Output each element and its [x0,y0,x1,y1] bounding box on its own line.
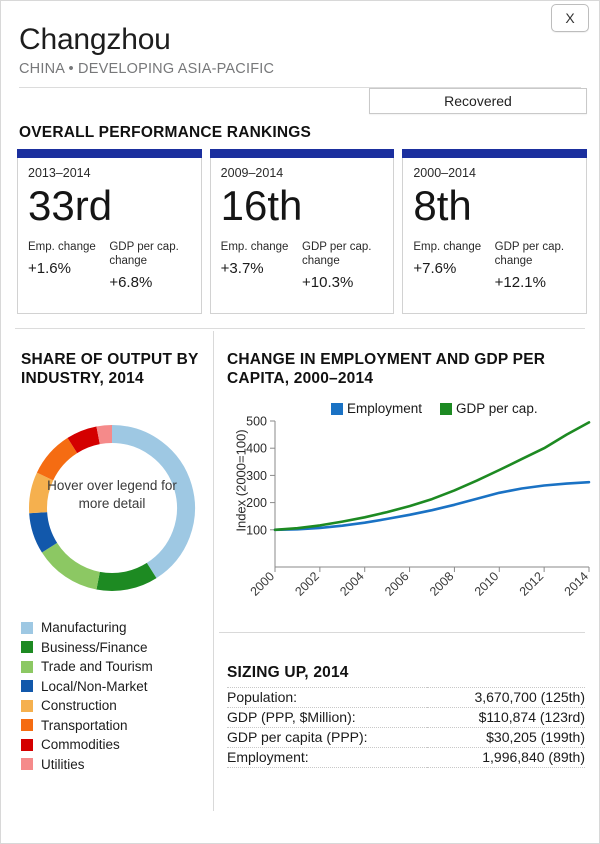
line-chart-svg: 1002003004005002000200220042006200820102… [223,415,595,615]
legend-item[interactable]: Transportation [21,716,211,736]
legend-item-label: Transportation [41,718,128,733]
x-axis-tick-label: 2002 [292,569,322,599]
legend-color-swatch [21,680,33,692]
card-metrics: Emp. change +3.7% GDP per cap. change +1… [221,240,384,291]
legend-item[interactable]: Business/Finance [21,638,211,658]
legend-item[interactable]: Construction [21,696,211,716]
y-axis-tick-label: 100 [246,523,267,537]
table-row-label: GDP (PPP, $Million): [227,708,427,728]
x-axis-tick-label: 2012 [517,569,547,599]
share-of-output-heading: SHARE OF OUTPUT BY INDUSTRY, 2014 [21,350,206,388]
card-accent-bar [402,149,587,158]
metric-value: +3.7% [221,260,302,277]
city-profile-panel: X Changzhou CHINA • DEVELOPING ASIA-PACI… [0,0,600,844]
legend-item[interactable]: Local/Non-Market [21,677,211,697]
metric-value: +12.1% [495,274,576,291]
card-accent-bar [17,149,202,158]
x-axis-tick-label: 2010 [472,569,502,599]
employment-gdp-line-chart[interactable]: EmploymentGDP per cap. Index (2000=100) … [223,401,595,616]
donut-segment[interactable] [45,446,72,477]
donut-segment[interactable] [38,513,49,548]
card-period: 2000–2014 [413,166,576,180]
metric-value: +7.6% [413,260,494,277]
y-axis-tick-label: 500 [246,415,267,429]
rankings-card-list: 2013–2014 33rd Emp. change +1.6% GDP per… [17,149,587,314]
line-series-path[interactable] [275,482,589,530]
metric-label: Emp. change [413,240,493,254]
y-axis-tick-label: 200 [246,496,267,510]
legend-color-swatch [21,739,33,751]
table-row: GDP per capita (PPP):$30,205 (199th) [227,728,585,748]
gdp-per-capita-change-metric: GDP per cap. change +6.8% [109,240,190,291]
line-chart-legend[interactable]: EmploymentGDP per cap. [331,401,538,416]
legend-color-swatch [21,758,33,770]
legend-item-label: Manufacturing [41,620,127,635]
table-row-label: GDP per capita (PPP): [227,728,427,748]
legend-item-label: Construction [41,698,117,713]
card-metrics: Emp. change +1.6% GDP per cap. change +6… [28,240,191,291]
card-accent-bar [210,149,395,158]
donut-center-hint: Hover over legend for more detail [33,477,191,513]
sizing-up-heading: SIZING UP, 2014 [227,664,349,682]
card-rank-value: 16th [221,181,384,231]
legend-item[interactable]: Manufacturing [21,618,211,638]
legend-item-label: Local/Non-Market [41,679,148,694]
table-row-value: $110,874 (123rd) [427,708,585,728]
ranking-card[interactable]: 2009–2014 16th Emp. change +3.7% GDP per… [210,149,395,314]
employment-change-metric: Emp. change +1.6% [28,240,109,291]
legend-color-swatch [21,622,33,634]
donut-segment[interactable] [98,434,112,435]
y-axis-tick-label: 400 [246,442,267,456]
employment-gdp-chart-heading: CHANGE IN EMPLOYMENT AND GDP PER CAPITA,… [227,350,582,388]
donut-segment[interactable] [50,548,99,581]
card-metrics: Emp. change +7.6% GDP per cap. change +1… [413,240,576,291]
table-row-label: Employment: [227,748,427,768]
employment-change-metric: Emp. change +7.6% [413,240,494,291]
chart-table-divider [219,632,585,633]
line-legend-swatch [440,403,452,415]
status-badge[interactable]: Recovered [369,88,587,114]
table-row-value: $30,205 (199th) [427,728,585,748]
gdp-per-capita-change-metric: GDP per cap. change +10.3% [302,240,383,291]
card-rank-value: 8th [413,181,576,231]
legend-item-label: Business/Finance [41,640,148,655]
donut-segment[interactable] [98,570,152,582]
donut-segment[interactable] [72,435,98,445]
legend-item[interactable]: Utilities [21,755,211,775]
industry-share-donut-chart[interactable]: Hover over legend for more detail [23,419,201,597]
metric-value: +6.8% [109,274,190,291]
table-row-value: 3,670,700 (125th) [427,688,585,708]
metric-label: GDP per cap. change [302,240,382,268]
metric-value: +10.3% [302,274,383,291]
table-row-value: 1,996,840 (89th) [427,748,585,768]
legend-item-label: Utilities [41,757,85,772]
card-period: 2009–2014 [221,166,384,180]
legend-color-swatch [21,641,33,653]
ranking-card[interactable]: 2013–2014 33rd Emp. change +1.6% GDP per… [17,149,202,314]
header: Changzhou CHINA • DEVELOPING ASIA-PACIFI… [19,23,581,78]
sizing-up-table: Population:3,670,700 (125th)GDP (PPP, $M… [227,687,585,768]
legend-color-swatch [21,661,33,673]
legend-item-label: Commodities [41,737,120,752]
region-subtitle: CHINA • DEVELOPING ASIA-PACIFIC [19,60,581,78]
y-axis-tick-label: 300 [246,469,267,483]
card-rank-value: 33rd [28,181,191,231]
line-legend-label: Employment [347,401,422,416]
x-axis-tick-label: 2000 [248,569,278,599]
column-divider [213,331,214,811]
metric-label: GDP per cap. change [495,240,575,268]
legend-color-swatch [21,700,33,712]
metric-value: +1.6% [28,260,109,277]
table-row: Population:3,670,700 (125th) [227,688,585,708]
rankings-heading: OVERALL PERFORMANCE RANKINGS [19,124,311,142]
employment-change-metric: Emp. change +3.7% [221,240,302,291]
metric-label: Emp. change [221,240,301,254]
line-legend-item[interactable]: Employment [331,401,422,416]
industry-legend[interactable]: ManufacturingBusiness/FinanceTrade and T… [21,618,211,774]
line-series-path[interactable] [275,422,589,529]
x-axis-tick-label: 2008 [427,569,457,599]
metric-label: Emp. change [28,240,108,254]
x-axis-tick-label: 2004 [337,569,367,599]
table-row-label: Population: [227,688,427,708]
table-row: GDP (PPP, $Million):$110,874 (123rd) [227,708,585,728]
legend-item[interactable]: Commodities [21,735,211,755]
legend-color-swatch [21,719,33,731]
x-axis-tick-label: 2014 [562,569,592,599]
line-legend-label: GDP per cap. [456,401,538,416]
section-divider [15,328,585,329]
legend-item[interactable]: Trade and Tourism [21,657,211,677]
metric-label: GDP per cap. change [109,240,189,268]
line-legend-item[interactable]: GDP per cap. [440,401,538,416]
card-period: 2013–2014 [28,166,191,180]
ranking-card[interactable]: 2000–2014 8th Emp. change +7.6% GDP per … [402,149,587,314]
legend-item-label: Trade and Tourism [41,659,153,674]
x-axis-tick-label: 2006 [382,569,412,599]
page-title: Changzhou [19,23,581,57]
gdp-per-capita-change-metric: GDP per cap. change +12.1% [495,240,576,291]
table-row: Employment:1,996,840 (89th) [227,748,585,768]
line-legend-swatch [331,403,343,415]
